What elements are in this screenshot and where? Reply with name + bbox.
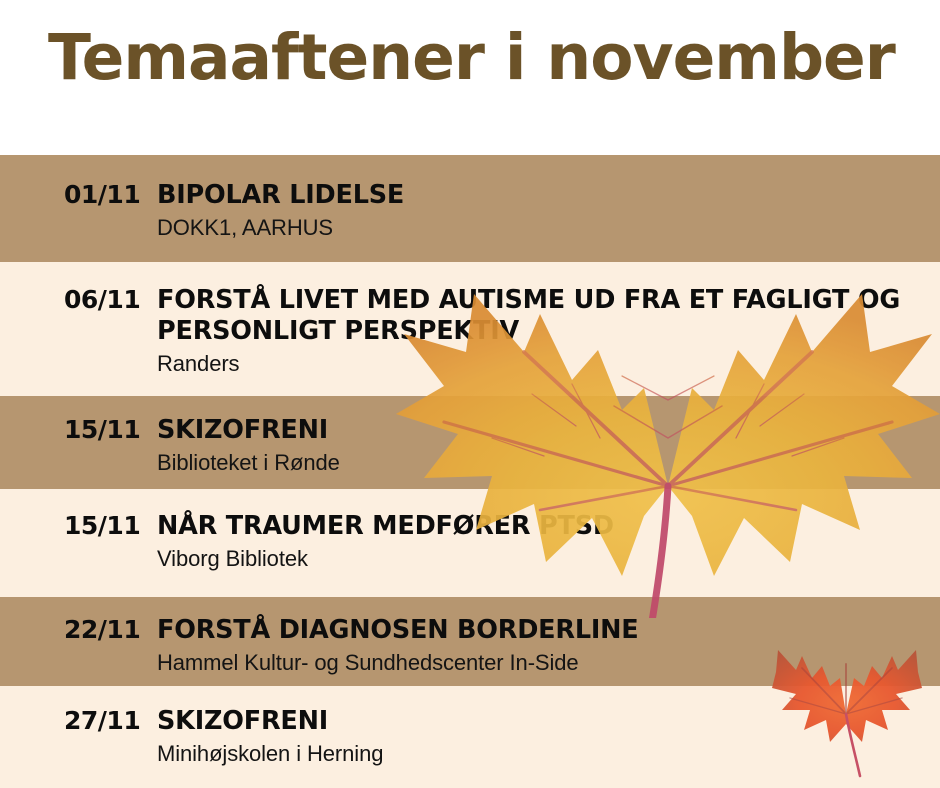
schedule-row: 01/11 BIPOLAR LIDELSE DOKK1, AARHUS [0,155,940,262]
event-venue: DOKK1, AARHUS [157,214,922,242]
event-title: SKIZOFRENI [157,706,922,737]
event-date: 01/11 [0,180,157,209]
event-details: SKIZOFRENI Biblioteket i Rønde [157,415,940,477]
event-date: 22/11 [0,615,157,644]
event-title: SKIZOFRENI [157,415,922,446]
schedule-row: 15/11 SKIZOFRENI Biblioteket i Rønde [0,396,940,489]
event-title: FORSTÅ LIVET MED AUTISME UD FRA ET FAGLI… [157,285,922,347]
schedule-row: 27/11 SKIZOFRENI Minihøjskolen i Herning [0,686,940,788]
event-title: BIPOLAR LIDELSE [157,180,922,211]
event-venue: Viborg Bibliotek [157,545,922,573]
event-title: FORSTÅ DIAGNOSEN BORDERLINE [157,615,922,646]
schedule-list: 01/11 BIPOLAR LIDELSE DOKK1, AARHUS 06/1… [0,155,940,788]
event-details: FORSTÅ DIAGNOSEN BORDERLINE Hammel Kultu… [157,615,940,677]
event-date: 06/11 [0,285,157,314]
event-date: 15/11 [0,415,157,444]
event-venue: Minihøjskolen i Herning [157,740,922,768]
event-poster: 01/11 BIPOLAR LIDELSE DOKK1, AARHUS 06/1… [0,0,940,788]
event-details: SKIZOFRENI Minihøjskolen i Herning [157,706,940,768]
schedule-row: 22/11 FORSTÅ DIAGNOSEN BORDERLINE Hammel… [0,597,940,686]
poster-header: Temaaftener i november [0,0,940,155]
event-date: 27/11 [0,706,157,735]
event-details: NÅR TRAUMER MEDFØRER PTSD Viborg Bibliot… [157,511,940,573]
event-details: FORSTÅ LIVET MED AUTISME UD FRA ET FAGLI… [157,285,940,378]
schedule-row: 06/11 FORSTÅ LIVET MED AUTISME UD FRA ET… [0,262,940,396]
event-venue: Hammel Kultur- og Sundhedscenter In-Side [157,649,922,677]
event-date: 15/11 [0,511,157,540]
event-title: NÅR TRAUMER MEDFØRER PTSD [157,511,922,542]
event-venue: Randers [157,350,922,378]
schedule-row: 15/11 NÅR TRAUMER MEDFØRER PTSD Viborg B… [0,489,940,597]
page-title: Temaaftener i november [48,22,895,94]
event-venue: Biblioteket i Rønde [157,449,922,477]
event-details: BIPOLAR LIDELSE DOKK1, AARHUS [157,180,940,242]
